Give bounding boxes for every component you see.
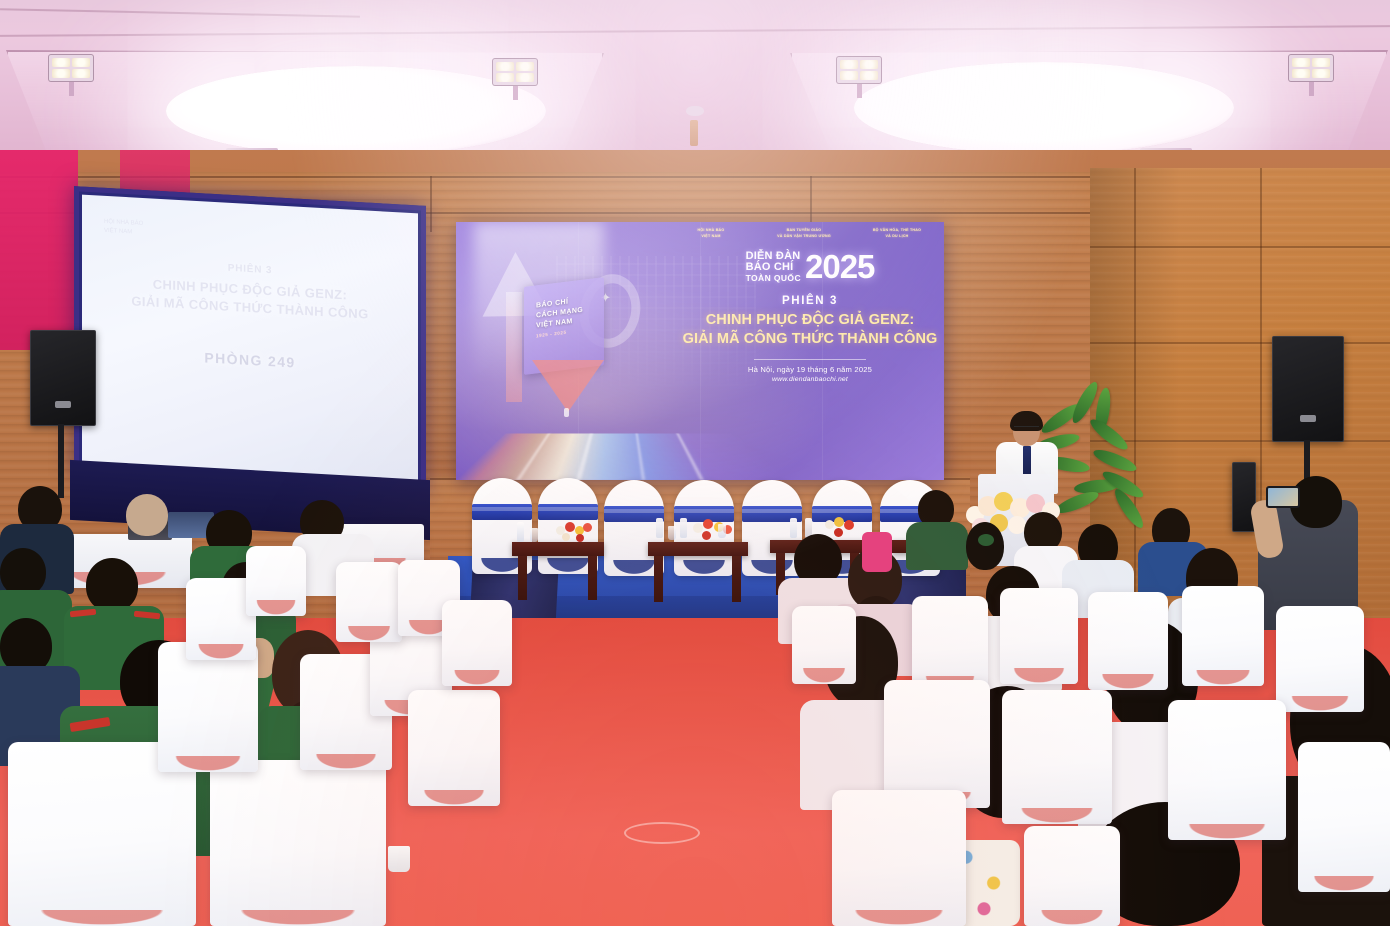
headline-line1: CHINH PHỤC ĐỘC GIẢ GENZ: xyxy=(682,311,938,330)
audience-chair xyxy=(246,546,306,616)
pink-outfit xyxy=(862,532,892,572)
organizer-logo-3: BỘ VĂN HÓA, THỂ THAO VÀ DU LỊCH xyxy=(856,228,938,240)
audience-chair xyxy=(1002,690,1112,824)
attendee-head xyxy=(86,558,138,612)
screen-corner-logo: HỘI NHÀ BÁO VIỆT NAM xyxy=(104,218,143,238)
chair-sash xyxy=(604,506,664,522)
flower-arrangement xyxy=(552,518,600,546)
water-bottle xyxy=(680,518,687,538)
event-title-group: DIỄN ĐÀN BÁO CHÍ TOÀN QUỐC 2025 xyxy=(746,251,875,283)
audience-chair xyxy=(1298,742,1390,892)
projection-screen: HỘI NHÀ BÁO VIỆT NAM PHIÊN 3 CHINH PHỤC … xyxy=(74,186,426,496)
table-leg xyxy=(518,556,527,600)
water-bottle xyxy=(517,522,524,542)
audience-chair xyxy=(912,596,988,692)
audience-chair xyxy=(1000,588,1078,684)
stage-table xyxy=(648,542,748,556)
ceiling-spotlight-cluster xyxy=(1288,54,1334,82)
ceiling-spotlight-cluster xyxy=(492,58,538,86)
smoke-detector-icon xyxy=(686,106,704,116)
audience-chair xyxy=(336,562,402,642)
hair-bun xyxy=(978,534,994,546)
water-bottle xyxy=(790,518,797,538)
audience-chair xyxy=(1088,592,1168,690)
audience-chair xyxy=(1168,700,1286,840)
table-leg xyxy=(654,556,663,602)
table-leg xyxy=(588,556,597,600)
banner-url: www.diendanbaochi.net xyxy=(682,376,938,383)
wall-speaker-right xyxy=(1272,336,1344,442)
ceiling-light-left xyxy=(166,66,546,156)
event-title-lines: DIỄN ĐÀN BÁO CHÍ TOÀN QUỐC xyxy=(746,251,801,283)
led-banner: ✦ BÁO CHÍ CÁCH MẠNG VIỆT NAM 1925 - 2025… xyxy=(456,222,944,480)
session-label: PHIÊN 3 xyxy=(682,295,938,307)
smartphone-icon xyxy=(1266,486,1300,508)
paper-cup xyxy=(388,846,410,872)
attendee-head xyxy=(0,548,46,596)
audience-chair xyxy=(1276,606,1364,712)
ceiling-spotlight-cluster xyxy=(48,54,94,82)
drinking-glass xyxy=(718,524,726,538)
banner-divider xyxy=(754,359,866,360)
eyeglasses-icon xyxy=(1014,426,1039,431)
audience-chair xyxy=(832,790,966,926)
organizer-logo-1: HỘI NHÀ BÁO VIỆT NAM xyxy=(670,228,752,240)
floor-outlet-ring xyxy=(624,822,700,844)
projection-screen-surface: HỘI NHÀ BÁO VIỆT NAM PHIÊN 3 CHINH PHỤC … xyxy=(82,195,418,488)
drinking-glass xyxy=(530,528,538,542)
spotlight-stem xyxy=(1309,82,1314,96)
wall-speaker-left xyxy=(30,330,96,426)
water-bottle xyxy=(656,518,663,538)
banner-place-date: Hà Nội, ngày 19 tháng 6 năm 2025 xyxy=(682,365,938,374)
audience-chair xyxy=(1182,586,1264,686)
headline-line2: GIẢI MÃ CÔNG THỨC THÀNH CÔNG xyxy=(682,330,938,349)
screen-room-number: PHÒNG 249 xyxy=(82,343,418,378)
ceiling-light-right xyxy=(854,62,1234,154)
audience-chair xyxy=(210,760,386,926)
drinking-glass xyxy=(668,526,676,540)
spotlight-stem xyxy=(857,84,862,98)
organizer-logos-row: HỘI NHÀ BÁO VIỆT NAM BAN TUYÊN GIÁO VÀ D… xyxy=(670,228,938,240)
event-line3: TOÀN QUỐC xyxy=(746,274,801,283)
audience-chair xyxy=(792,606,856,684)
speaker-mount-arm xyxy=(58,424,64,498)
sprinkler-icon xyxy=(690,120,698,146)
audience-chair xyxy=(442,600,512,686)
attendee-head xyxy=(966,522,1004,570)
banner-light-road xyxy=(456,433,786,480)
banner-text-block: DIỄN ĐÀN BÁO CHÍ TOÀN QUỐC 2025 PHIÊN 3 … xyxy=(682,246,938,383)
attendee-head xyxy=(126,494,168,536)
organizer-logo-2: BAN TUYÊN GIÁO VÀ DÂN VẬN TRUNG ƯƠNG xyxy=(763,228,845,240)
table-leg xyxy=(732,556,741,602)
accent-wall-panel-left xyxy=(0,150,78,350)
press-100-anniversary-logo: ✦ BÁO CHÍ CÁCH MẠNG VIỆT NAM 1925 - 2025 xyxy=(476,248,636,418)
spotlight-stem xyxy=(513,86,518,100)
audience-chair xyxy=(1024,826,1120,926)
chair-sash xyxy=(472,504,532,520)
event-year: 2025 xyxy=(805,252,874,282)
spotlight-stem xyxy=(69,82,74,96)
audience-chair xyxy=(884,680,990,808)
wall-seam xyxy=(430,176,432,232)
conference-hall-photo: HỘI NHÀ BÁO VIỆT NAM PHIÊN 3 CHINH PHỤC … xyxy=(0,0,1390,926)
audience-chair xyxy=(408,690,500,806)
ceiling-spotlight-cluster xyxy=(836,56,882,84)
flower-arrangement xyxy=(690,516,738,544)
attendee-torso xyxy=(906,522,968,570)
